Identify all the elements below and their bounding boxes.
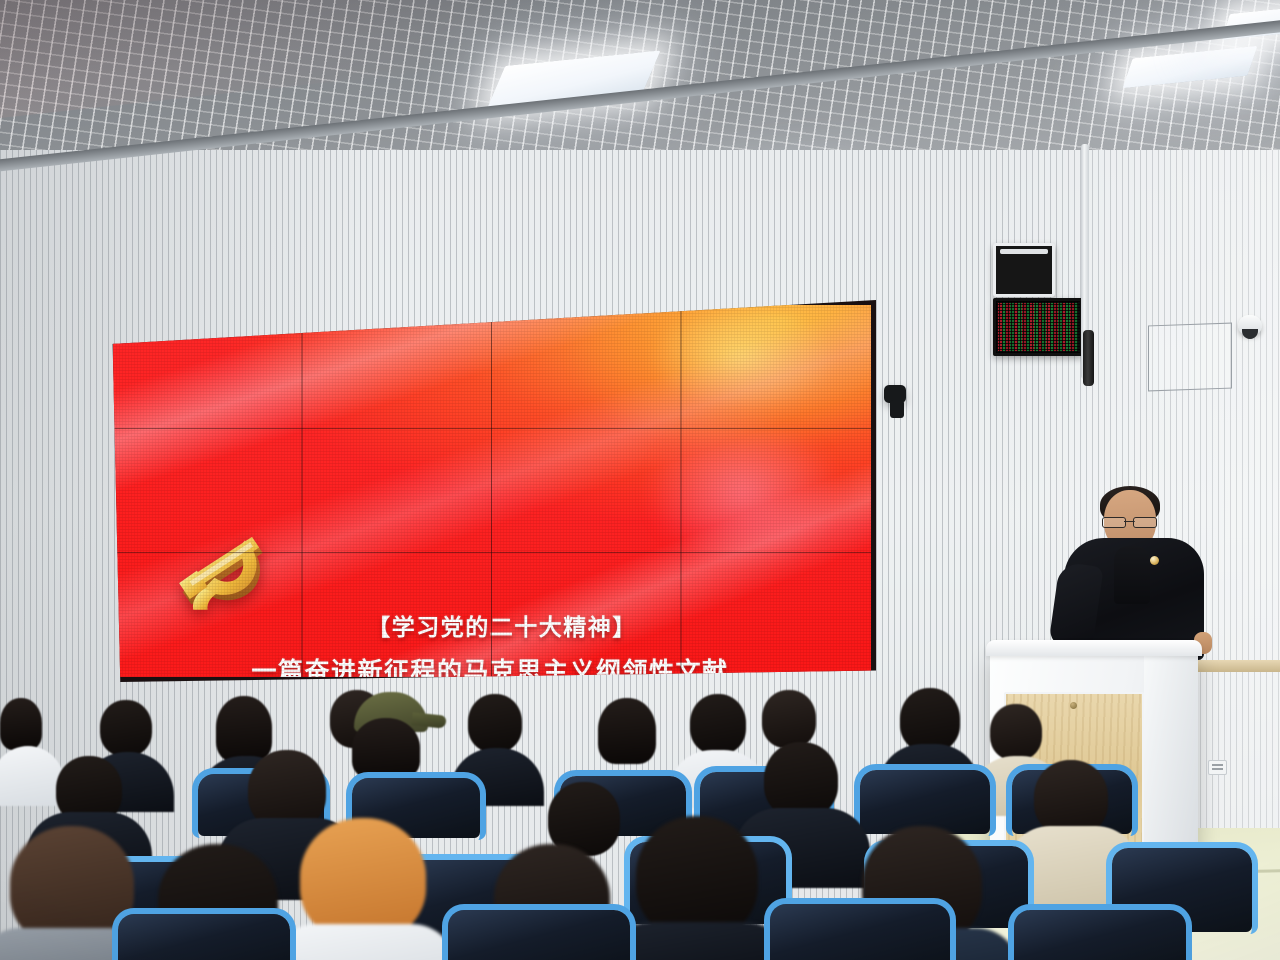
video-wall-screen: 【学习党的二十大精神】 一篇奋进新征程的马克思主义纲领性文献 主讲人：虞帆 20… (113, 305, 871, 677)
audience-person (762, 690, 816, 748)
audience-person (764, 742, 838, 818)
audience-person (216, 696, 272, 762)
seat[interactable] (860, 770, 990, 834)
audience-person (0, 698, 42, 750)
wall-camera-icon (884, 385, 906, 403)
audience-person (990, 704, 1042, 760)
access-panel (1148, 323, 1232, 392)
audience-person (300, 818, 426, 940)
audience-person (100, 700, 152, 756)
seat[interactable] (1014, 910, 1186, 960)
audience-person (0, 746, 64, 806)
led-matrix-display (993, 298, 1083, 356)
glasses-icon (1102, 517, 1157, 526)
audience-person (1034, 760, 1108, 836)
audience-person (272, 924, 456, 960)
audience-person (690, 694, 746, 754)
audience-person (900, 688, 960, 752)
seat[interactable] (770, 904, 950, 960)
slide-bracket-title: 【学习党的二十大精神】 (367, 608, 637, 642)
lecture-hall-scene: 【学习党的二十大精神】 一篇奋进新征程的马克思主义纲领性文献 主讲人：虞帆 20… (0, 0, 1280, 960)
audience-person (468, 694, 522, 752)
seat[interactable] (448, 910, 630, 960)
lapel-pin-icon (1150, 556, 1159, 565)
audience-person (352, 718, 420, 780)
audience-seating-area (0, 660, 1280, 960)
audience-person (636, 816, 758, 938)
seat[interactable] (118, 914, 290, 960)
conduit-clamp (1083, 330, 1094, 386)
audience-person (598, 698, 656, 764)
led-matrix-grid (996, 301, 1080, 353)
wall-monitor[interactable] (993, 243, 1055, 297)
dome-camera-icon (1238, 315, 1262, 335)
podium-top-surface (986, 640, 1202, 656)
presenter-person (1058, 490, 1208, 660)
led-video-wall[interactable]: 【学习党的二十大精神】 一篇奋进新征程的马克思主义纲领性文献 主讲人：虞帆 20… (108, 300, 876, 682)
slide-content: 【学习党的二十大精神】 一篇奋进新征程的马克思主义纲领性文献 主讲人：虞帆 20… (113, 305, 871, 677)
presenter-shirt (1114, 546, 1150, 604)
